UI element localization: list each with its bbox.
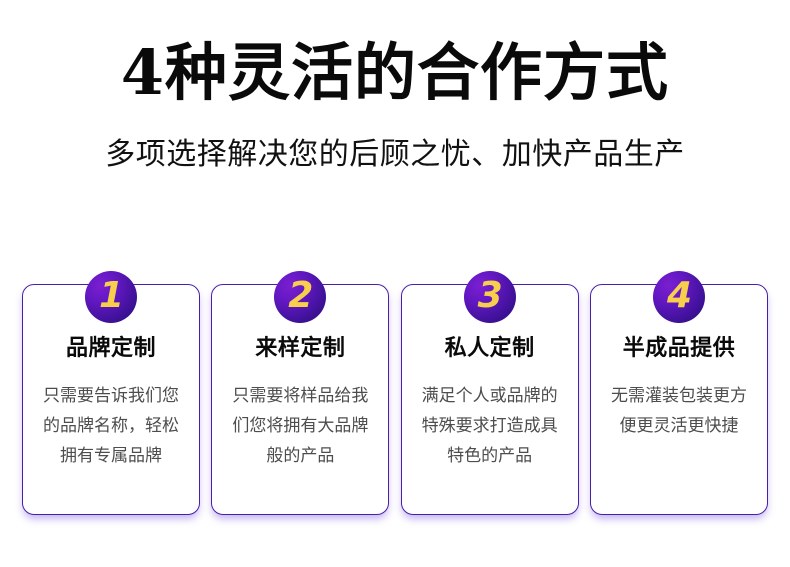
card-body-4: 无需灌装包装更方便更灵活更快捷 [591, 362, 767, 441]
cooperation-card-1[interactable]: 1 品牌定制 只需要告诉我们您的品牌名称，轻松拥有专属品牌 [22, 284, 200, 515]
card-body-2: 只需要将样品给我们您将拥有大品牌般的产品 [212, 362, 388, 471]
step-number-4: 4 [667, 278, 691, 316]
step-badge-2: 2 [274, 271, 326, 323]
step-badge-1: 1 [85, 271, 137, 323]
step-number-3: 3 [478, 278, 502, 316]
page-subtitle: 多项选择解决您的后顾之忧、加快产品生产 [0, 105, 790, 173]
cooperation-card-4[interactable]: 4 半成品提供 无需灌装包装更方便更灵活更快捷 [590, 284, 768, 515]
step-number-1: 1 [99, 278, 123, 316]
step-number-2: 2 [288, 278, 312, 316]
promo-banner: 4种灵活的合作方式 多项选择解决您的后顾之忧、加快产品生产 1 品牌定制 只需要… [0, 0, 790, 567]
cooperation-card-2[interactable]: 2 来样定制 只需要将样品给我们您将拥有大品牌般的产品 [211, 284, 389, 515]
card-body-3: 满足个人或品牌的特殊要求打造成具特色的产品 [402, 362, 578, 471]
cooperation-card-3[interactable]: 3 私人定制 满足个人或品牌的特殊要求打造成具特色的产品 [401, 284, 579, 515]
step-badge-4: 4 [653, 271, 705, 323]
step-badge-3: 3 [464, 271, 516, 323]
cooperation-cards-row: 1 品牌定制 只需要告诉我们您的品牌名称，轻松拥有专属品牌 2 来样定制 只需要… [22, 284, 768, 515]
card-body-1: 只需要告诉我们您的品牌名称，轻松拥有专属品牌 [23, 362, 199, 471]
page-title: 4种灵活的合作方式 [0, 40, 790, 105]
heading-block: 4种灵活的合作方式 多项选择解决您的后顾之忧、加快产品生产 [0, 40, 790, 173]
